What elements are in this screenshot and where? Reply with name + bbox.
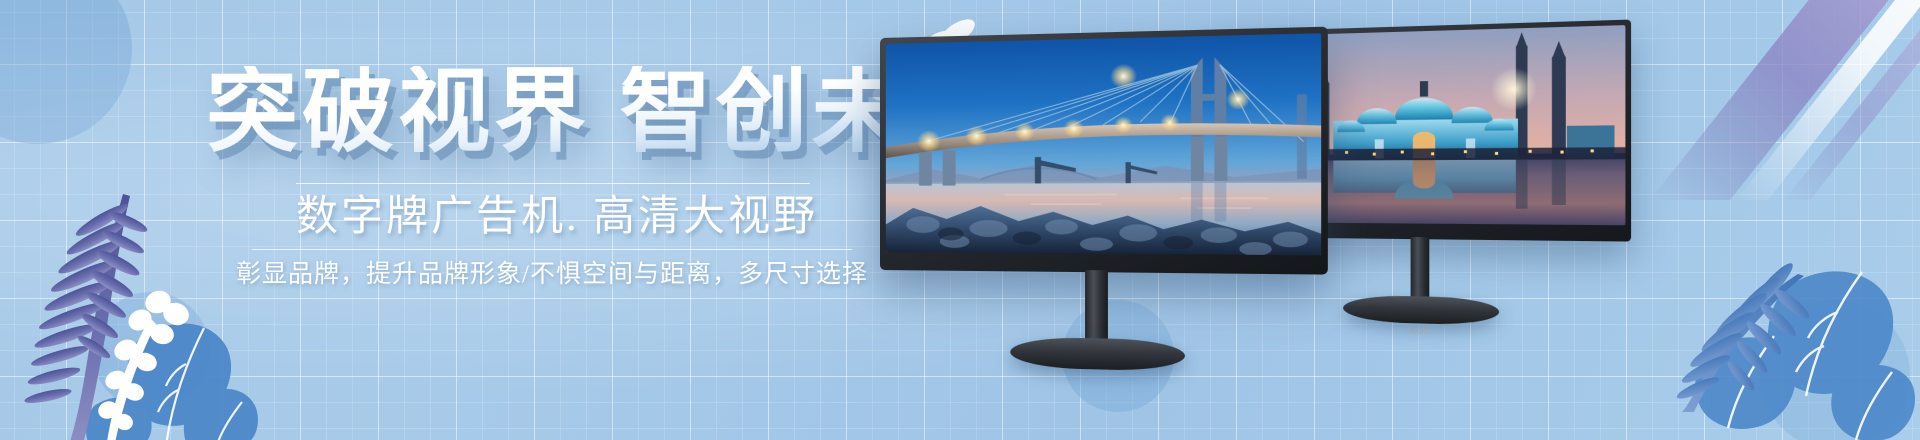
monitor-back-base xyxy=(1343,295,1499,326)
promo-banner: 突破视界 智创未来 数字牌广告机. 高清大视野 彰显品牌，提升品牌形象/不惧空间… xyxy=(0,0,1920,440)
monitor-front-neck xyxy=(1085,270,1108,345)
divider-top xyxy=(296,183,810,184)
subtitle: 数字牌广告机. 高清大视野 xyxy=(296,190,816,244)
monitor-front-bezel xyxy=(880,27,1328,275)
monitor-back-neck xyxy=(1411,237,1430,302)
monitor-back-brand: AOC xyxy=(1409,325,1431,336)
monitor-front-screen xyxy=(886,33,1321,255)
product-showcase: AOC xyxy=(880,0,1920,440)
monitor-front: AOC xyxy=(880,27,1328,380)
tagline: 彰显品牌，提升品牌形象/不惧空间与距离，多尺寸选择 xyxy=(214,258,890,292)
copy-block: 突破视界 智创未来 数字牌广告机. 高清大视野 彰显品牌，提升品牌形象/不惧空间… xyxy=(0,0,900,440)
monitor-front-base xyxy=(1010,337,1185,372)
divider-bottom xyxy=(252,249,852,250)
